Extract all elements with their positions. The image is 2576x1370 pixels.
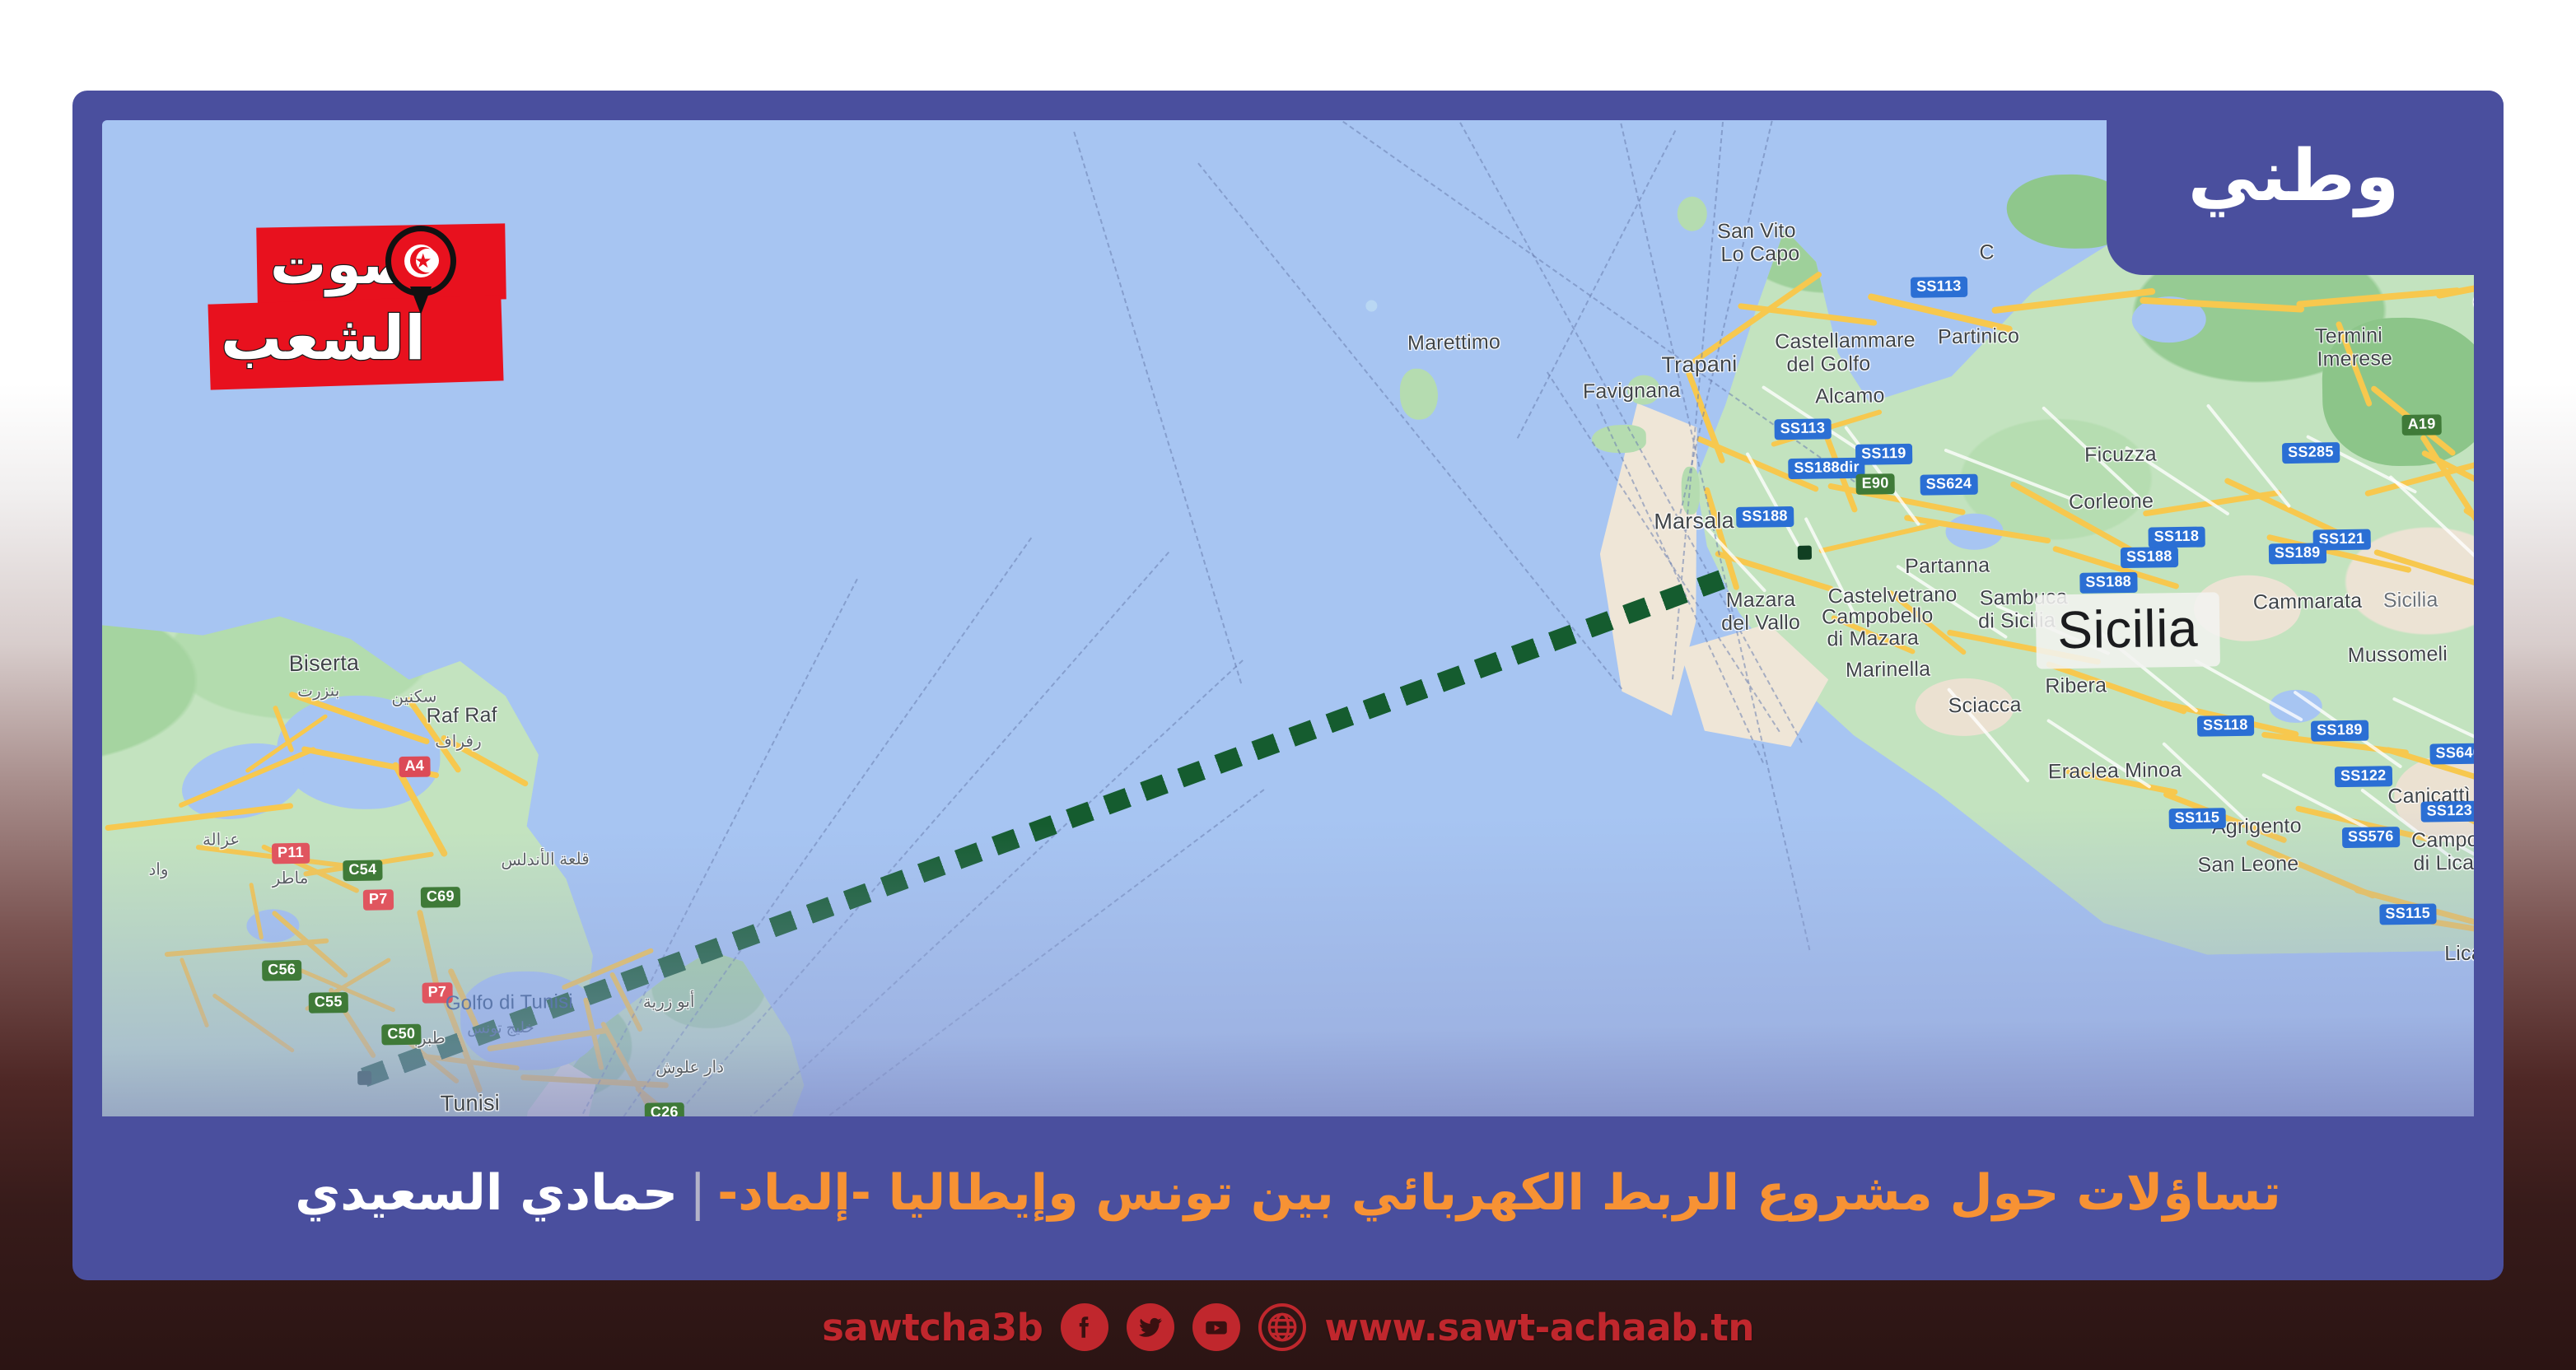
road-shield: P7 <box>363 889 394 910</box>
road-shield: SS188 <box>2079 572 2137 594</box>
road-shield: SS118 <box>2197 715 2254 737</box>
category-badge-label: وطني <box>2188 135 2423 231</box>
map-label: Marsala <box>1654 509 1734 534</box>
website-url: www.sawt-achaab.tn <box>1324 1306 1754 1349</box>
road-shield: SS188dir <box>1788 458 1865 479</box>
globe-icon[interactable] <box>1258 1303 1306 1351</box>
map-label: San Leone <box>2197 853 2298 877</box>
sea-depth-fade <box>102 802 2474 1116</box>
road-shield: A19 <box>2401 414 2441 436</box>
tunisia-flag-pin-icon: ★ <box>385 226 456 296</box>
sea-label: Golfo di Tunisi <box>446 991 573 1014</box>
category-badge[interactable]: وطني <box>2107 91 2504 275</box>
map-label: Campobello <box>2411 828 2474 852</box>
road-shield: C50 <box>381 1024 421 1046</box>
map-label: Favignana <box>1583 380 1681 403</box>
road-shield: C55 <box>309 992 348 1014</box>
map-label: Trapani <box>1661 352 1737 378</box>
map-label: Cefalù <box>2472 291 2474 315</box>
road-shield: SS115 <box>2169 808 2226 829</box>
map-label: Mazara <box>1726 589 1796 612</box>
road-shield: SS576 <box>2342 827 2400 848</box>
headline-strip: تساؤلات حول مشروع الربط الكهربائي بين تو… <box>72 1116 2504 1280</box>
region-label-sicilia: Sicilia <box>2036 592 2220 669</box>
road-shield: C69 <box>421 887 460 908</box>
footer-bar: sawtcha3b www.sawt-achaab.tn <box>0 1284 2576 1370</box>
road-shield: SS624 <box>1920 474 1977 496</box>
map-label: Partinico <box>1938 325 2019 348</box>
map-label: San Vito <box>1717 220 1796 243</box>
map-label: Licata <box>2444 942 2474 965</box>
map-label: Marettimo <box>1407 331 1500 355</box>
twitter-icon[interactable] <box>1127 1303 1174 1351</box>
road-shield: SS189 <box>2269 543 2326 564</box>
map-label: رفراف <box>435 734 482 752</box>
map-label: Raf Raf <box>426 704 497 727</box>
logo-word-achaab: الشعب <box>221 303 426 374</box>
road-shield: SS123 <box>2420 801 2474 822</box>
road-shield: SS188 <box>2121 547 2178 568</box>
map-label: دار علوش <box>656 1059 724 1078</box>
map-label: Marinella <box>1846 659 1931 683</box>
road-shield: SS285 <box>2282 442 2340 464</box>
map-label: Cammarata <box>2253 590 2363 614</box>
map-label: Lo Capo <box>1720 243 1799 266</box>
road-shield: SS115 <box>2379 903 2436 925</box>
headline: تساؤلات حول مشروع الربط الكهربائي بين تو… <box>295 1163 2281 1223</box>
map-label: قلعة الأندلس <box>501 851 590 870</box>
social-handle: sawtcha3b <box>822 1306 1043 1349</box>
road-shield: E90 <box>1855 473 1894 494</box>
map-label: Corleone <box>2069 490 2154 514</box>
headline-separator: | <box>678 1164 717 1222</box>
map-label: C <box>1979 241 1995 263</box>
road-shield: SS188 <box>1736 506 1794 528</box>
map-label: di Licata <box>2413 851 2474 874</box>
road-shield: P11 <box>272 843 310 864</box>
map-label: Ribera <box>2045 674 2107 697</box>
map-label: Imerese <box>2317 347 2392 370</box>
road-shield: SS118 <box>2148 527 2205 548</box>
map-label: Sciacca <box>1948 694 2021 717</box>
map-label: بنزرت <box>297 683 339 701</box>
map-label: del Golfo <box>1786 353 1870 377</box>
road-shield: SS113 <box>1774 418 1831 440</box>
map-label: ماطر <box>272 870 308 888</box>
map-label: Biserta <box>288 651 359 676</box>
road-shield: A4 <box>399 757 430 777</box>
road-shield: SS189 <box>2311 720 2368 742</box>
map-label: di Mazara <box>1827 627 1919 651</box>
flag-field: ★ <box>391 231 450 291</box>
map-label: Partanna <box>1905 554 1990 578</box>
map-label: Alcamo <box>1815 384 1885 408</box>
road-shield: C26 <box>645 1102 684 1116</box>
road-shield: SS122 <box>2335 766 2392 787</box>
map-label: عزالة <box>203 832 240 850</box>
map-label: أبو زرية <box>643 994 695 1013</box>
sea-label-arabic: خليج تونس <box>467 1020 534 1037</box>
map-label: Mussomeli <box>2348 643 2448 667</box>
island-small <box>1365 300 1377 311</box>
headline-title: تساؤلات حول مشروع الربط الكهربائي بين تو… <box>717 1164 2281 1222</box>
map-label: واد <box>148 861 168 879</box>
road-shield: C56 <box>262 960 301 981</box>
map-label: Termini <box>2315 324 2382 347</box>
map-label: Sicilia <box>2383 589 2438 612</box>
facebook-icon[interactable] <box>1061 1303 1108 1351</box>
road-shield: C54 <box>343 860 382 881</box>
cable-endpoint-mazara <box>1798 546 1812 560</box>
avatar[interactable]: صوت الشعب ★ <box>209 221 529 398</box>
road-shield: SS640 <box>2429 743 2474 764</box>
youtube-icon[interactable] <box>1192 1303 1240 1351</box>
map-label: Ficuzza <box>2084 443 2157 466</box>
map-label: del Vallo <box>1721 612 1800 635</box>
road-shield: SS113 <box>1911 277 1967 298</box>
news-card: BisertaبنزرتسكنينRaf Rafرفرافعزالةوادماط… <box>72 91 2504 1280</box>
map-label: Tunisi <box>440 1091 500 1116</box>
map-label: Castellammare <box>1775 329 1916 354</box>
flag-star-icon: ★ <box>414 251 432 271</box>
headline-author: حمادي السعيدي <box>295 1164 678 1222</box>
map-label: Campobello <box>1822 604 1934 628</box>
map-label: Eraclea Minoa <box>2048 759 2182 783</box>
